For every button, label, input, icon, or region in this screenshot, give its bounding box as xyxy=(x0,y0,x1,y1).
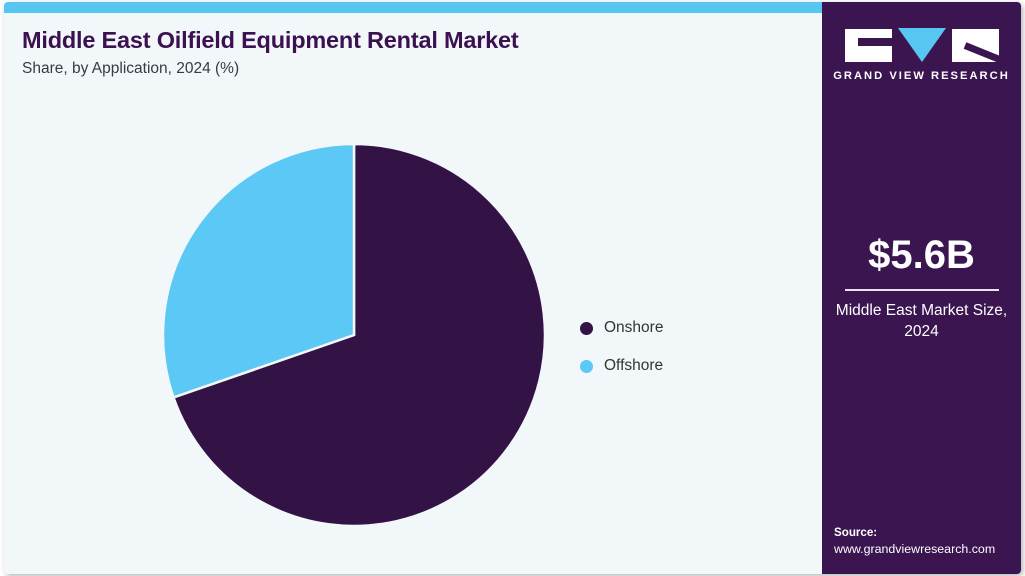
legend-swatch-offshore xyxy=(580,360,593,373)
source-label: Source: xyxy=(834,526,1021,539)
legend-swatch-onshore xyxy=(580,322,593,335)
legend-item-offshore[interactable]: Offshore xyxy=(580,347,800,385)
logo-triangle-icon xyxy=(898,28,946,62)
chart-card: Middle East Oilfield Equipment Rental Ma… xyxy=(4,2,1021,574)
legend-item-onshore[interactable]: Onshore xyxy=(580,309,800,347)
logo-wordmark: GRAND VIEW RESEARCH xyxy=(822,70,1021,82)
title-block: Middle East Oilfield Equipment Rental Ma… xyxy=(22,27,802,78)
chart-main-area: Middle East Oilfield Equipment Rental Ma… xyxy=(4,13,822,574)
legend-label-onshore: Onshore xyxy=(604,319,663,337)
logo-r-icon xyxy=(952,29,999,62)
stat-caption: Middle East Market Size, 2024 xyxy=(822,301,1021,343)
stat-block: $5.6B Middle East Market Size, 2024 xyxy=(822,235,1021,343)
top-accent-bar xyxy=(4,2,822,13)
brand-logo: GRAND VIEW RESEARCH xyxy=(822,28,1021,82)
chart-legend: Onshore Offshore xyxy=(580,309,800,385)
pie-slices xyxy=(163,144,545,526)
stat-value: $5.6B xyxy=(822,235,1021,275)
side-panel: GRAND VIEW RESEARCH $5.6B Middle East Ma… xyxy=(822,2,1021,574)
legend-label-offshore: Offshore xyxy=(604,357,663,375)
logo-marks xyxy=(822,28,1021,62)
pie-chart-svg xyxy=(160,141,548,529)
chart-subtitle: Share, by Application, 2024 (%) xyxy=(22,60,802,78)
page-title: Middle East Oilfield Equipment Rental Ma… xyxy=(22,27,802,54)
logo-g-icon xyxy=(845,29,892,62)
pie-chart xyxy=(160,141,548,529)
source-url[interactable]: www.grandviewresearch.com xyxy=(834,542,1021,556)
source-block: Source: www.grandviewresearch.com xyxy=(834,526,1021,556)
stat-divider xyxy=(845,289,999,291)
